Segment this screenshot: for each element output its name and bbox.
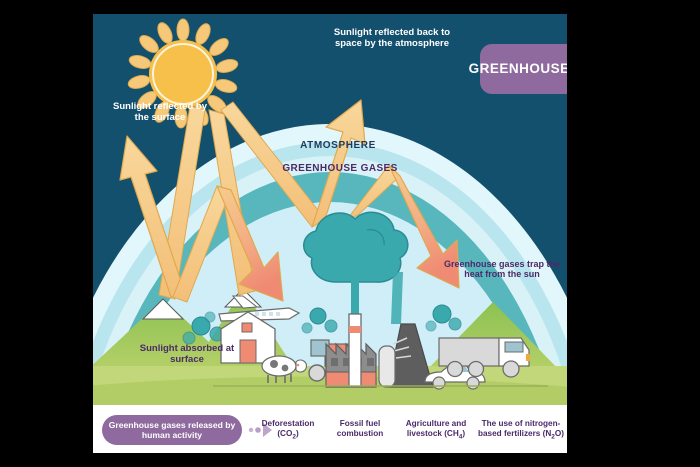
- label-reflected-to-space: Sunlight reflected back to space by the …: [322, 28, 462, 50]
- source-line-2: based fertilizers (N: [478, 429, 551, 438]
- source-line-1: Fossil fuel: [340, 419, 381, 428]
- label-greenhouse-gases: GREENHOUSE GASES: [265, 163, 415, 175]
- source-line-1: The use of nitrogen-: [482, 419, 561, 428]
- label-sunlight-absorbed: Sunlight absorbed at surface: [135, 344, 239, 366]
- source-deforestation: Deforestation (CO2): [249, 419, 327, 442]
- footer-panel: Greenhouse gases released by human activ…: [93, 405, 567, 453]
- source-line-1: Agriculture and: [406, 419, 467, 428]
- source-fossil-fuel: Fossil fuel combustion: [325, 419, 395, 440]
- label-trap-heat: Greenhouse gases trap the heat from the …: [441, 259, 563, 280]
- greenhouse-effect-infographic: Sunlight reflected back to space by the …: [93, 14, 567, 453]
- source-line-3: ): [296, 429, 299, 438]
- human-activity-pill: Greenhouse gases released by human activ…: [102, 415, 242, 445]
- source-line-2: livestock (CH: [407, 429, 459, 438]
- source-line-2: combustion: [337, 429, 383, 438]
- title-badge: GREENHOUSEEFECT: [480, 44, 567, 94]
- label-reflected-by-surface: Sunlight reflected by the surface: [106, 102, 214, 124]
- source-agriculture: Agriculture and livestock (CH4): [393, 419, 479, 442]
- screenshot-root: Sunlight reflected back to space by the …: [0, 0, 700, 467]
- source-line-3: O): [555, 429, 564, 438]
- source-line-2: (CO: [277, 429, 292, 438]
- source-fertilizers: The use of nitrogen- based fertilizers (…: [475, 419, 567, 442]
- source-line-1: Deforestation: [262, 419, 315, 428]
- label-atmosphere: ATMOSPHERE: [273, 140, 403, 152]
- source-line-3: ): [462, 429, 465, 438]
- smoke-plume-right: [391, 272, 403, 324]
